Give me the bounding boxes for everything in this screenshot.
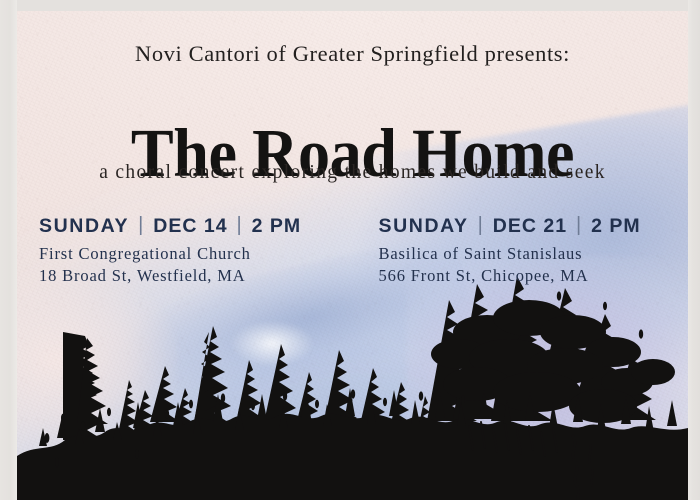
event-separator-1: | [129, 214, 153, 237]
poster-text-layer: Novi Cantori of Greater Springfield pres… [17, 11, 688, 500]
poster-sheet: Novi Cantori of Greater Springfield pres… [17, 11, 688, 500]
event-time: 2 PM [591, 215, 641, 238]
subtitle-line: a choral concert exploring the homes we … [17, 162, 688, 184]
frame-edge-left [0, 0, 17, 500]
event-venue: First Congregational Church [39, 244, 353, 264]
frame-edge-top [0, 0, 700, 11]
event-time: 2 PM [252, 215, 302, 238]
event-separator-1: | [469, 214, 493, 237]
frame-edge-right [688, 0, 700, 500]
event-block-westfield: SUNDAY | DEC 14 | 2 PM First Congregatio… [25, 215, 353, 286]
event-date: DEC 21 [493, 215, 567, 238]
event-list: SUNDAY | DEC 14 | 2 PM First Congregatio… [25, 215, 680, 286]
event-address: 566 Front St, Chicopee, MA [379, 266, 681, 286]
event-datetime: SUNDAY | DEC 14 | 2 PM [39, 215, 353, 238]
event-address: 18 Broad St, Westfield, MA [39, 266, 353, 286]
event-date: DEC 14 [153, 215, 227, 238]
event-separator-2: | [228, 214, 252, 237]
event-day: SUNDAY [379, 215, 469, 238]
event-venue: Basilica of Saint Stanislaus [379, 244, 681, 264]
event-separator-2: | [567, 214, 591, 237]
event-block-chicopee: SUNDAY | DEC 21 | 2 PM Basilica of Saint… [353, 215, 681, 286]
presenter-line: Novi Cantori of Greater Springfield pres… [17, 41, 688, 67]
event-day: SUNDAY [39, 215, 129, 238]
poster-canvas: Novi Cantori of Greater Springfield pres… [0, 0, 700, 500]
event-datetime: SUNDAY | DEC 21 | 2 PM [379, 215, 681, 238]
